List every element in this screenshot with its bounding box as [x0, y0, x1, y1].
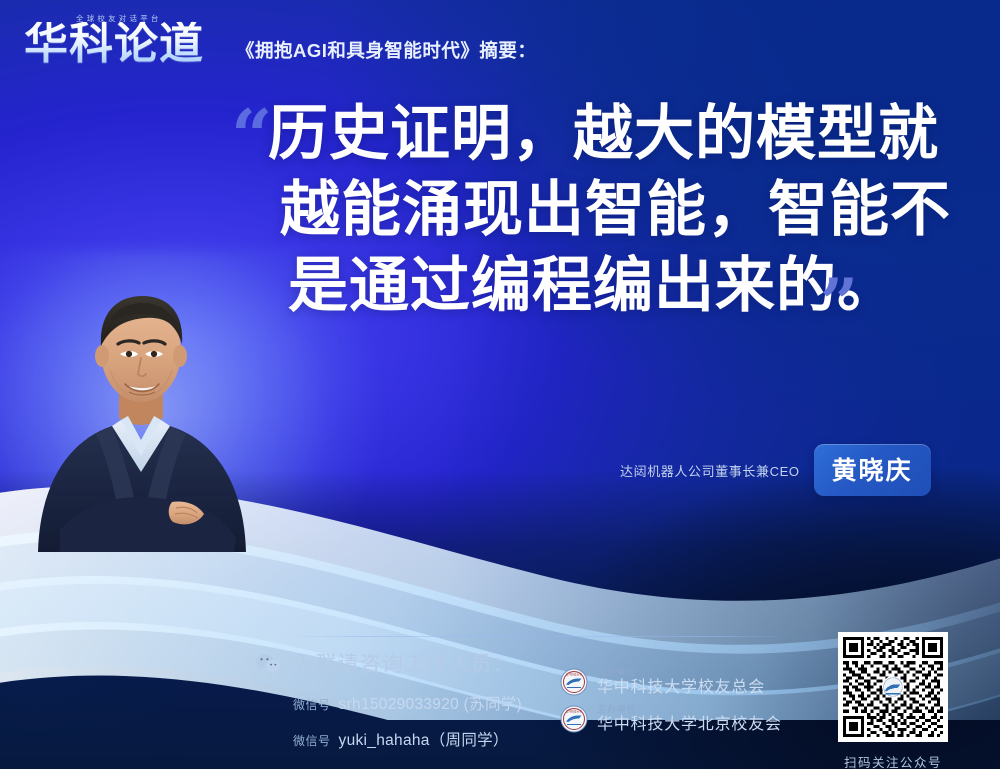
organization-text: 指导单位 华中科技大学校友总会: [597, 668, 765, 696]
wechat-entry: 微信号 srh15029033920 (苏同学): [293, 692, 522, 714]
organization-row: 华中科技大学 指导单位 华中科技大学校友总会: [560, 668, 782, 696]
wechat-label: 微信号: [293, 696, 331, 713]
organization-row: 华中科技大学 主办单位 华中科技大学北京校友会: [560, 705, 782, 733]
speaker-portrait: [26, 286, 256, 556]
hust-seal-icon: 华中科技大学: [560, 668, 588, 696]
hust-seal-icon: 华中科技大学: [560, 705, 588, 733]
quote-close-mark: ”: [820, 270, 854, 336]
logo-wordmark: 华科论道: [24, 22, 204, 66]
qr-block: 扫码关注公众号: [838, 632, 948, 769]
organization-kind: 主办单位: [597, 705, 782, 714]
attribution: 达闼机器人公司董事长兼CEO 黄晓庆: [620, 444, 931, 496]
quote-line-2: 越能涌现出智能，智能不: [280, 172, 948, 248]
qr-caption: 扫码关注公众号: [838, 752, 948, 769]
organization-name: 华中科技大学北京校友会: [597, 717, 782, 733]
speaker-title: 达闼机器人公司董事长兼CEO: [620, 461, 800, 480]
organization-kind: 指导单位: [597, 668, 765, 677]
quote-open-mark: “: [231, 100, 268, 172]
wechat-label: 微信号: [293, 732, 331, 749]
footer-divider: [288, 636, 788, 637]
organization-text: 主办单位 华中科技大学北京校友会: [597, 705, 782, 733]
contact-block: 入群请咨询工作人员： 微信号 srh15029033920 (苏同学) 微信号 …: [255, 648, 522, 750]
wechat-entry: 微信号 yuki_hahaha（周同学）: [293, 728, 522, 750]
header-subtitle: 《拥抱AGI和具身智能时代》摘要：: [236, 37, 536, 72]
quote-line-1: 历史证明，越大的模型就: [268, 96, 948, 172]
speaker-name-badge: 黄晓庆: [814, 444, 931, 496]
qr-code[interactable]: [838, 632, 948, 742]
wechat-value[interactable]: srh15029033920 (苏同学): [339, 692, 523, 714]
wechat-value[interactable]: yuki_hahaha（周同学）: [339, 728, 509, 750]
svg-text:华中科技大学: 华中科技大学: [566, 709, 582, 713]
organization-name: 华中科技大学校友总会: [597, 680, 765, 696]
header: 全球校友对话平台 华科论道 《拥抱AGI和具身智能时代》摘要：: [24, 14, 536, 72]
brand-logo[interactable]: 全球校友对话平台 华科论道: [24, 14, 220, 72]
organizations-block: 华中科技大学 指导单位 华中科技大学校友总会 华中科技大学 主办: [560, 668, 782, 742]
svg-text:华中科技大学: 华中科技大学: [566, 672, 582, 676]
wechat-icon: [255, 653, 281, 673]
poster-canvas: 全球校友对话平台 华科论道 《拥抱AGI和具身智能时代》摘要： “ 历史证明，越…: [0, 0, 1000, 769]
contact-header: 入群请咨询工作人员：: [255, 648, 522, 678]
contact-title: 入群请咨询工作人员：: [293, 648, 515, 678]
